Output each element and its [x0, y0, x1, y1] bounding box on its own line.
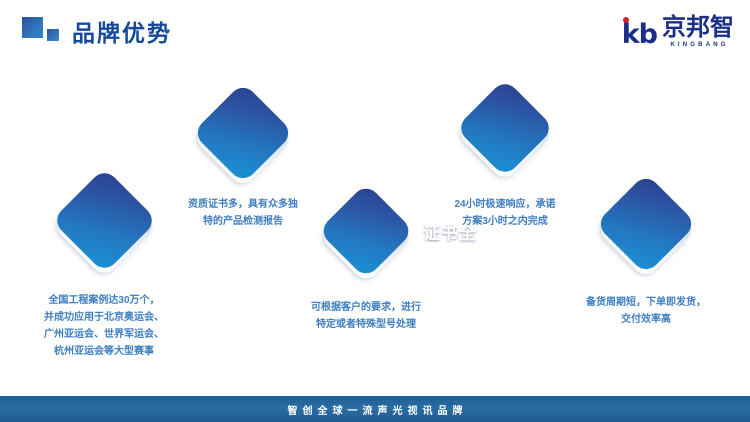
diamond-face [192, 82, 294, 184]
square-large-icon [22, 17, 43, 38]
advantage-desc-5: 备货周期短，下单即发货， 交付效率高 [556, 294, 736, 328]
logo-dot-icon [623, 17, 629, 23]
logo-wordmark: 京邦智 KINGBANG [662, 16, 734, 48]
diamond-face [318, 183, 414, 279]
logo-english-text: KINGBANG [670, 42, 728, 48]
brand-logo: kb 京邦智 KINGBANG [622, 14, 734, 48]
logo-chinese-text: 京邦智 [662, 16, 734, 40]
advantage-desc-1: 全国工程案例达30万个， 并成功应用于北京奥运会、 广州亚运会、世界军运会、 杭… [9, 292, 199, 360]
diamond-2[interactable]: 证书全 [207, 97, 279, 169]
logo-mark-text: kb [622, 19, 657, 50]
advantage-desc-2: 资质证书多，具有众多独 特的产品检测报告 [158, 196, 328, 230]
advantage-desc-3: 可根据客户的要求，进行 特定或者特殊型号处理 [281, 299, 451, 333]
slide-canvas: 品牌优势 kb 京邦智 KINGBANG 案例多 全国工程案例达30万个， 并成… [0, 0, 750, 422]
diamond-3[interactable]: 定制化 [332, 197, 400, 265]
footer-slogan: 智创全球一流声光视讯品牌 [283, 402, 468, 417]
diamond-4[interactable]: 响应快 [470, 93, 540, 163]
page-title: 品牌优势 [72, 14, 172, 48]
diamond-5[interactable]: 时效高 [610, 188, 682, 260]
logo-mark: kb [622, 21, 657, 48]
diamond-face [51, 167, 157, 273]
advantage-desc-4: 24小时极速响应，承诺 方案3小时之内完成 [415, 196, 595, 230]
footer-bar: 智创全球一流声光视讯品牌 [0, 396, 750, 422]
diamond-1[interactable]: 案例多 [67, 183, 142, 258]
diamond-face [595, 173, 697, 275]
square-small-icon [47, 29, 59, 41]
diamond-face [456, 79, 555, 178]
